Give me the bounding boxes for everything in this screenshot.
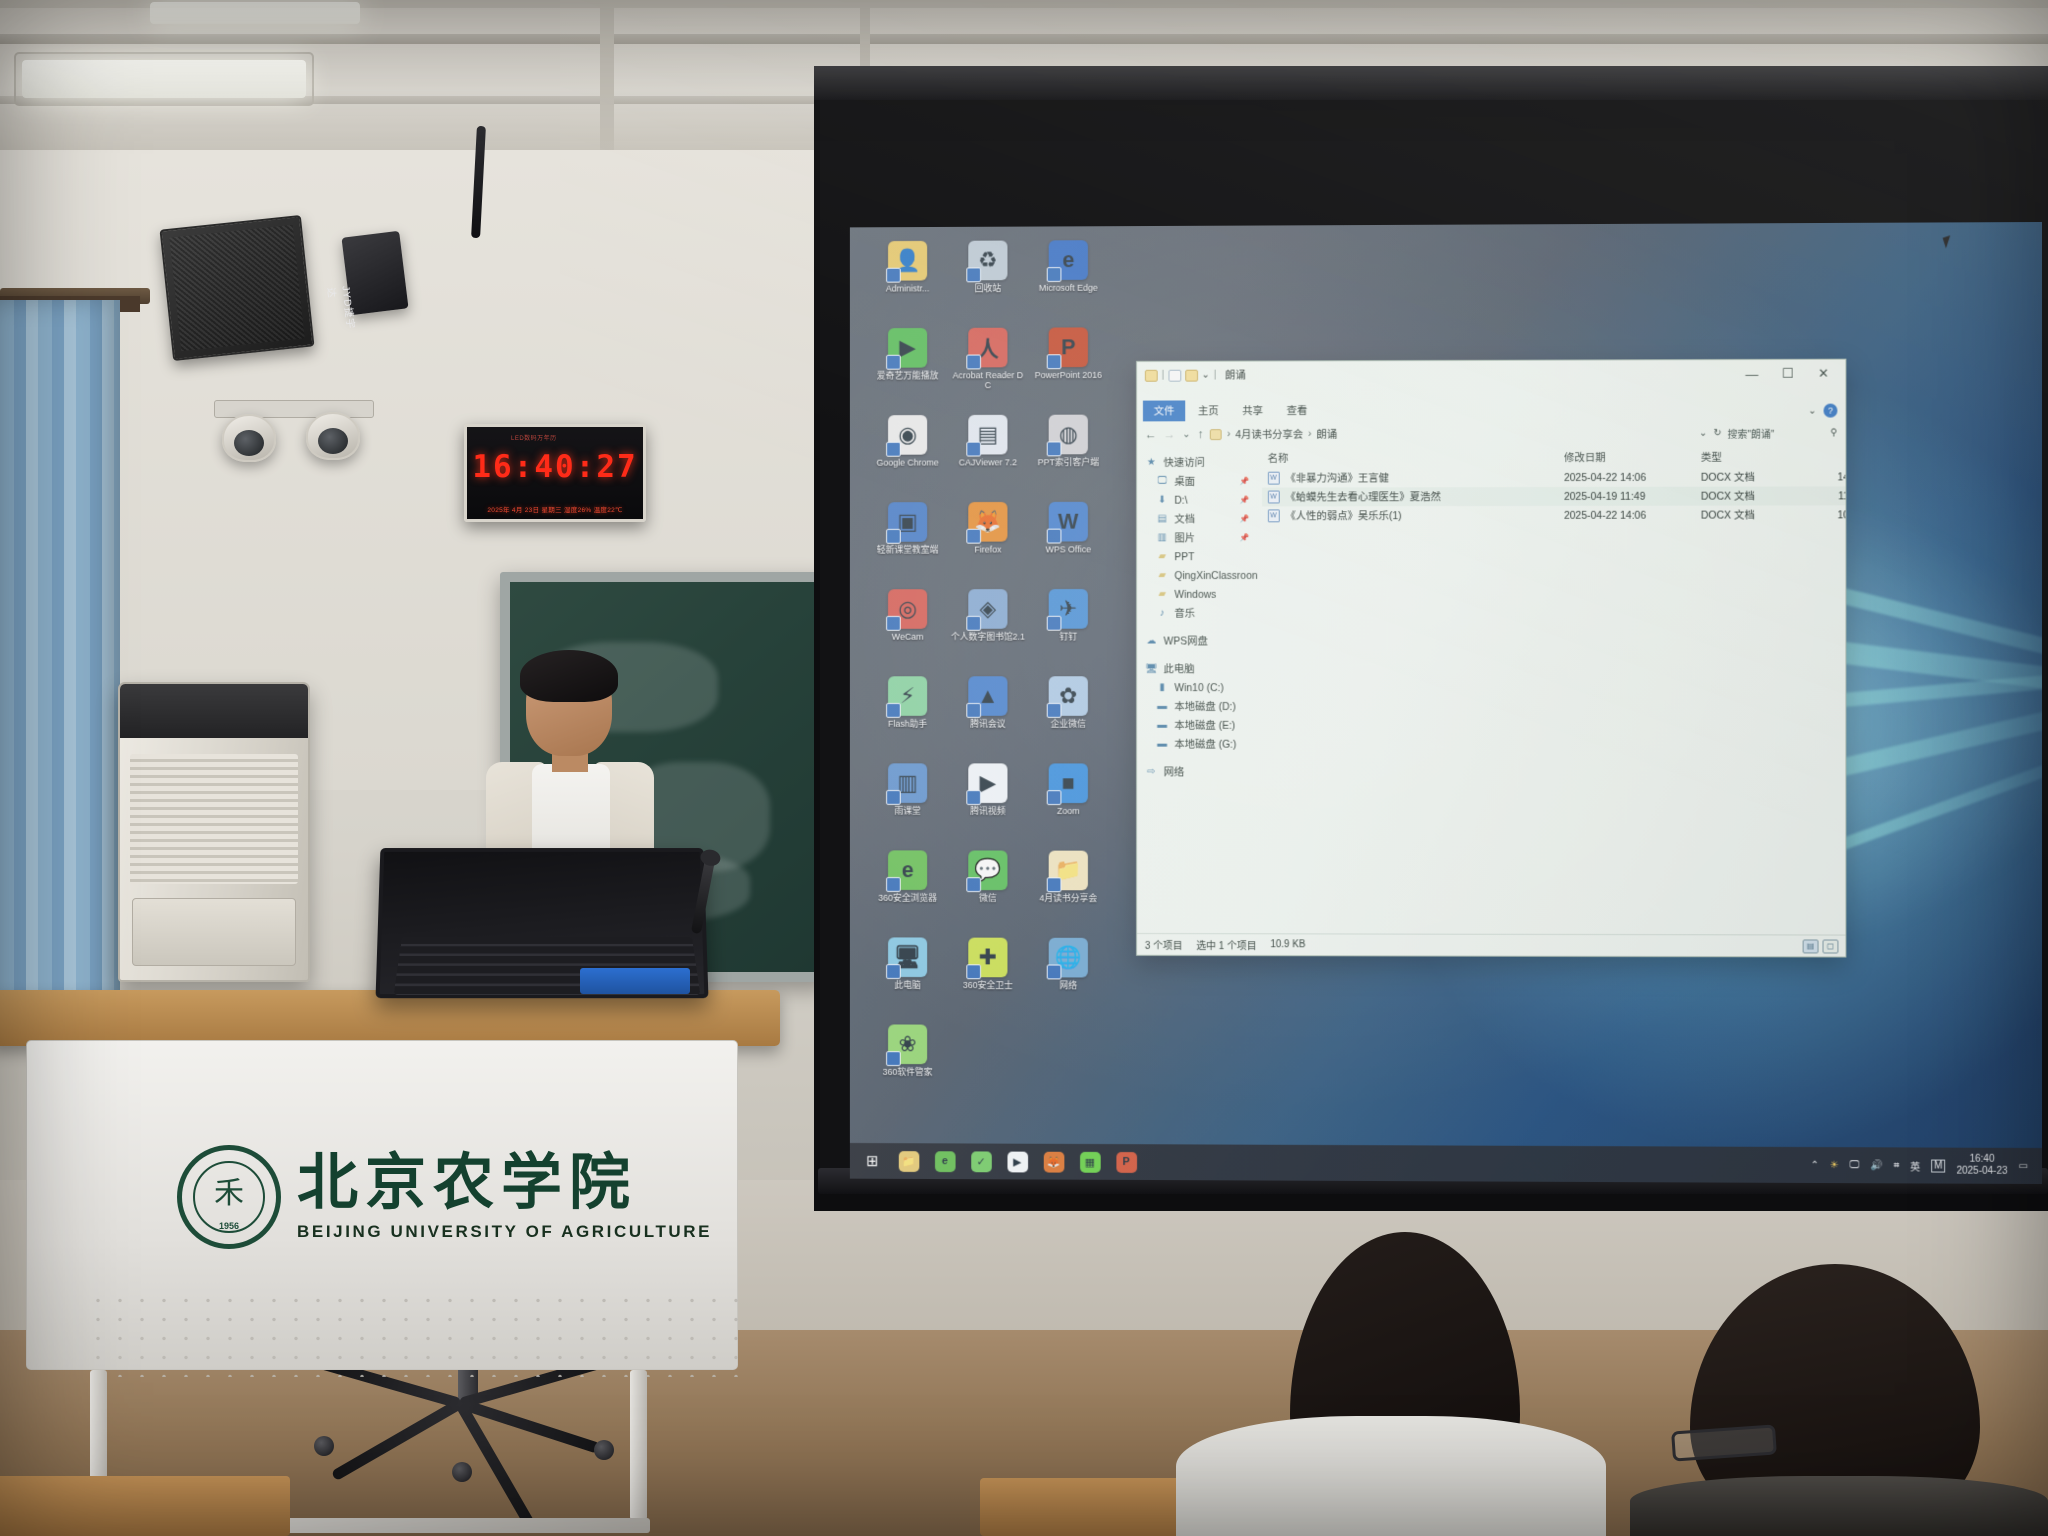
nav-item-label: 音乐 — [1174, 606, 1195, 621]
wifi-access-point: JYD捷宇达 — [341, 231, 408, 315]
folder-icon — [1210, 429, 1222, 440]
column-header-size[interactable]: 大小 — [1810, 449, 1845, 464]
desktop-icon-glyph: ▣ — [888, 502, 927, 542]
ribbon-tab-file[interactable]: 文件 — [1143, 400, 1185, 421]
nav-item[interactable]: ▰QingXinClassroon — [1145, 566, 1258, 585]
nav-item-label: 本地磁盘 (G:) — [1174, 737, 1236, 752]
taskbar[interactable]: ⊞ 📁e✓▶🦊▦P ⌃ ☀ 🖵 🔊 ⌗ 英 M 16:40 2025-04-23… — [850, 1143, 2042, 1184]
ribbon-right-controls[interactable]: ⌄ ? — [1808, 404, 1837, 418]
column-header-row[interactable]: 名称 修改日期 类型 大小 ⌃ — [1262, 445, 1846, 468]
ceiling-rail — [0, 34, 2048, 44]
desktop-icon-label: Microsoft Edge — [1030, 283, 1107, 293]
pin-icon[interactable]: 📌 — [1240, 514, 1250, 523]
desktop-icon-glyph: ♻ — [968, 241, 1007, 281]
desktop-icon[interactable]: ▥雨课堂 — [869, 763, 945, 840]
desktop-icon[interactable]: ⚡Flash助手 — [869, 676, 945, 753]
folder-icon[interactable] — [1145, 369, 1158, 381]
desktop-icon-label: 个人数字图书馆2.1 — [950, 632, 1026, 642]
new-folder-icon[interactable] — [1185, 369, 1198, 381]
action-center-icon[interactable]: ▭ — [2019, 1160, 2028, 1171]
desktop-icon-label: Flash助手 — [869, 719, 945, 729]
desktop-icon-glyph: 🌐 — [1049, 938, 1088, 978]
desktop-icon-label: 360安全浏览器 — [869, 893, 945, 903]
desktop-icon-label: 轻新课堂教室端 — [869, 545, 945, 555]
desktop-icon-glyph: 人 — [968, 328, 1007, 368]
start-button[interactable]: ⊞ — [856, 1145, 889, 1177]
search-input[interactable]: 搜索"朗诵" — [1728, 425, 1775, 440]
file-rows[interactable]: W《非暴力沟通》王言健2025-04-22 14:06DOCX 文档14 KBW… — [1262, 467, 1846, 525]
powerpoint-icon: P — [1116, 1152, 1137, 1173]
desktop-icon[interactable]: PPowerPoint 2016 — [1030, 327, 1107, 405]
nav-item-label: 文档 — [1174, 512, 1195, 527]
breadcrumb-item-1[interactable]: 朗诵 — [1316, 426, 1337, 441]
chevron-down-icon[interactable]: ⌄ — [1699, 427, 1707, 438]
nav-item[interactable]: ▰PPT — [1145, 547, 1258, 566]
download-icon: ⬇ — [1156, 495, 1169, 506]
docx-file-icon: W — [1268, 472, 1280, 485]
nav-item[interactable]: ☁WPS网盘 — [1145, 632, 1258, 651]
wps-icon: ▦ — [1080, 1151, 1101, 1172]
system-drive-icon: ▮ — [1156, 682, 1169, 693]
desktop-icon-label: WeCam — [869, 632, 945, 642]
desktop-icon-glyph: ◉ — [888, 415, 927, 455]
file-type: DOCX 文档 — [1701, 470, 1810, 485]
windows-logo-icon: ⊞ — [866, 1152, 878, 1170]
file-name-cell[interactable]: W《非暴力沟通》王言健 — [1268, 470, 1564, 486]
nav-item[interactable]: ★快速访问 — [1145, 453, 1258, 472]
led-clock-time: 16:40:27 — [467, 449, 643, 485]
nav-item[interactable]: 🖥此电脑 — [1145, 659, 1258, 678]
ceiling-duct — [600, 0, 614, 150]
desktop-icon: 🖵 — [1156, 476, 1169, 487]
taskbar-file-explorer[interactable]: 📁 — [892, 1145, 925, 1177]
air-conditioner — [118, 682, 310, 982]
nav-item-label: D:\ — [1174, 494, 1187, 506]
nav-item-label: Windows — [1174, 588, 1216, 600]
ribbon-tab-share[interactable]: 共享 — [1231, 400, 1273, 421]
classroom-scene: JYD捷宇达 LED数码万年历 16:40:27 2025年 4月 23日 星期… — [0, 0, 2048, 1536]
desktop-icon[interactable]: 👤Administr... — [869, 241, 945, 318]
desktop-icon-glyph: e — [888, 850, 927, 890]
column-header-date[interactable]: 修改日期 — [1564, 449, 1701, 464]
lectern: 禾 1956 北京农学院 BEIJING UNIVERSITY OF AGRIC… — [0, 990, 780, 1536]
desktop-icon[interactable]: ▶爱奇艺万能播放 — [869, 328, 945, 405]
taskbar-tencent-video[interactable]: ▶ — [1001, 1146, 1034, 1178]
cloud-icon: ☁ — [1145, 636, 1158, 647]
nav-item-label: PPT — [1174, 551, 1194, 563]
desktop-icon-glyph: 👤 — [888, 241, 927, 281]
desktop-icon-glyph: 📁 — [1049, 851, 1088, 891]
desktop-icon-label: Administr... — [869, 283, 945, 293]
show-hidden-icons[interactable]: ⌃ — [1811, 1159, 1819, 1170]
navigation-pane[interactable]: ★快速访问🖵桌面📌⬇D:\📌▤文档📌▥图片📌▰PPT▰QingXinClassr… — [1137, 447, 1262, 933]
selection-count: 选中 1 个项目 — [1196, 937, 1256, 952]
desktop-icon-glyph: ■ — [1049, 763, 1088, 803]
breadcrumb[interactable]: › 4月读书分享会 › 朗诵 — [1210, 426, 1337, 441]
file-date: 2025-04-22 14:06 — [1564, 509, 1701, 521]
tencent-video-icon: ▶ — [1007, 1151, 1028, 1172]
presenter-hair — [520, 650, 618, 702]
desktop-icon-glyph: ◍ — [1049, 415, 1088, 455]
lectern-touchpad-strip — [580, 968, 690, 994]
ceiling-duct-2 — [860, 0, 870, 66]
folder-icon: ▰ — [1156, 551, 1169, 562]
desktop-icon-glyph: ◎ — [888, 589, 927, 629]
nav-item-label: QingXinClassroon — [1174, 569, 1257, 581]
360-safe-icon: ✓ — [971, 1151, 992, 1172]
ceiling-light-tube-2 — [150, 2, 360, 24]
wall-speaker-left — [159, 215, 314, 361]
desktop-icon-label: 腾讯会议 — [950, 719, 1026, 729]
breadcrumb-item-0[interactable]: 4月读书分享会 — [1235, 426, 1303, 441]
desktop-icon[interactable]: ❀360软件管家 — [869, 1024, 945, 1101]
star-icon: ★ — [1145, 457, 1158, 468]
desktop-icon-glyph: 🖥 — [888, 937, 927, 977]
desktop-icon-glyph: ✿ — [1049, 676, 1088, 716]
nav-item-label: 本地磁盘 (E:) — [1174, 718, 1235, 733]
file-date: 2025-04-22 14:06 — [1564, 471, 1701, 483]
clock-date: 2025-04-23 — [1956, 1166, 2007, 1178]
desktop-icon[interactable]: 🖥此电脑 — [869, 937, 945, 1014]
close-button[interactable]: ✕ — [1806, 362, 1842, 386]
refresh-icon[interactable]: ↻ — [1713, 427, 1721, 438]
pin-icon[interactable]: 📌 — [1240, 533, 1250, 542]
desktop-icon[interactable]: 📁4月读书分享会 — [1030, 851, 1107, 928]
picture-icon: ▥ — [1156, 532, 1169, 543]
desktop-icon[interactable]: ♻回收站 — [950, 240, 1026, 318]
desktop-icon-label: 腾讯视频 — [950, 806, 1026, 816]
desktop-icon-glyph: ◈ — [968, 589, 1007, 629]
desktop-icon[interactable]: 🦊Firefox — [950, 502, 1026, 579]
nav-item-label: 本地磁盘 (D:) — [1174, 699, 1235, 714]
desktop-icon-label: CAJViewer 7.2 — [950, 457, 1026, 467]
360-browser-icon: e — [935, 1151, 956, 1172]
collapse-ribbon-icon[interactable]: ⌄ — [1808, 405, 1816, 416]
ac-control-panel — [132, 898, 296, 966]
security-camera-left — [222, 414, 276, 462]
desktop-icon-label: WPS Office — [1030, 544, 1107, 554]
taskbar-powerpoint[interactable]: P — [1110, 1146, 1143, 1178]
up-button[interactable]: ↑ — [1197, 427, 1203, 441]
network-icon: ⇨ — [1145, 766, 1158, 777]
seal-emblem: 禾 — [214, 1179, 244, 1209]
led-clock-brand: LED数码万年历 — [511, 433, 557, 442]
file-name: 《蛤蟆先生去看心理医生》夏浩然 — [1285, 489, 1440, 504]
file-size: 10 KB — [1810, 509, 1845, 521]
selection-size: 10.9 KB — [1270, 939, 1305, 950]
ime-language-icon[interactable]: 英 — [1910, 1158, 1920, 1173]
taskbar-360-browser[interactable]: e — [928, 1145, 961, 1177]
nav-item-label: 图片 — [1174, 530, 1195, 545]
nav-item[interactable]: ▬本地磁盘 (E:) — [1145, 716, 1258, 735]
wifi-ap-label: JYD捷宇达 — [324, 285, 360, 339]
desktop-icon[interactable]: ▶腾讯视频 — [950, 763, 1026, 840]
nav-item[interactable]: ▥图片📌 — [1145, 528, 1258, 547]
file-row[interactable]: W《蛤蟆先生去看心理医生》夏浩然2025-04-19 11:49DOCX 文档1… — [1262, 486, 1846, 506]
desktop-icon[interactable]: ◍PPT索引客户端 — [1030, 415, 1107, 492]
view-mode-buttons[interactable]: ▤ ▢ — [1803, 939, 1839, 953]
university-logo: 禾 1956 北京农学院 BEIJING UNIVERSITY OF AGRIC… — [177, 1145, 712, 1249]
network-icon[interactable]: 🖵 — [1850, 1160, 1860, 1171]
desktop-icon-label: 此电脑 — [869, 980, 945, 990]
ribbon-tab-view[interactable]: 查看 — [1276, 400, 1318, 421]
file-size: 11 KB — [1810, 490, 1845, 502]
nav-item[interactable]: 🖵桌面📌 — [1145, 472, 1258, 491]
desktop-icon[interactable]: ✚360安全卫士 — [950, 938, 1026, 1015]
lectern-speaker-grill — [87, 1291, 747, 1377]
file-explorer-icon: 📁 — [898, 1151, 919, 1172]
file-date: 2025-04-19 11:49 — [1564, 490, 1701, 502]
desktop-icon-glyph: ✚ — [968, 938, 1007, 978]
desktop-icon-glyph: ▶ — [888, 328, 927, 368]
chevron-down-icon[interactable]: ⌄ — [1202, 370, 1210, 381]
nav-item[interactable]: ⬇D:\📌 — [1145, 491, 1258, 510]
audience-body-right — [1630, 1476, 2048, 1536]
desktop-icon-label: Zoom — [1030, 806, 1107, 816]
drive-icon: ▬ — [1156, 720, 1169, 731]
system-tray[interactable]: ⌃ ☀ 🖵 🔊 ⌗ 英 M 16:40 2025-04-23 ▭ — [1811, 1153, 2036, 1178]
desktop-icon-glyph: ✈ — [1049, 589, 1088, 629]
minimize-button[interactable]: — — [1734, 362, 1770, 386]
desktop-icon-glyph: W — [1049, 502, 1088, 542]
university-seal: 禾 1956 — [177, 1145, 281, 1249]
maximize-button[interactable]: ☐ — [1770, 362, 1806, 386]
status-bar: 3 个项目 选中 1 个项目 10.9 KB ▤ ▢ — [1137, 933, 1845, 957]
pin-icon[interactable]: 📌 — [1240, 496, 1250, 505]
bluetooth-icon[interactable]: ⌗ — [1894, 1160, 1900, 1171]
ceiling-light-tube — [22, 60, 306, 98]
large-icons-view-icon[interactable]: ▢ — [1823, 939, 1839, 953]
volume-icon[interactable]: 🔊 — [1870, 1160, 1882, 1171]
desktop-icon-label: PPT索引客户端 — [1030, 457, 1107, 467]
desktop-icon-glyph: ▤ — [968, 415, 1007, 455]
firefox-icon: 🦊 — [1043, 1151, 1064, 1172]
explorer-window-title: 朗诵 — [1225, 368, 1246, 383]
desktop-icon[interactable]: ■Zoom — [1030, 763, 1107, 840]
document-icon: ▤ — [1156, 514, 1169, 525]
file-name-cell[interactable]: W《人性的弱点》吴乐乐(1) — [1268, 508, 1564, 523]
forward-button[interactable]: → — [1164, 427, 1176, 441]
desktop-icon-label: 360安全卫士 — [950, 980, 1026, 990]
window-controls[interactable]: — ☐ ✕ — [1734, 362, 1841, 386]
search-box[interactable]: ⌄ ↻ 搜索"朗诵" ⚲ — [1699, 425, 1837, 440]
recent-locations-icon[interactable]: ⌄ — [1182, 429, 1190, 440]
file-name-cell[interactable]: W《蛤蟆先生去看心理医生》夏浩然 — [1268, 489, 1564, 504]
file-type: DOCX 文档 — [1701, 507, 1810, 522]
folder-icon: ▰ — [1156, 570, 1169, 581]
properties-icon[interactable] — [1168, 369, 1181, 381]
taskbar-wps[interactable]: ▦ — [1073, 1146, 1106, 1178]
nav-item[interactable]: ▬本地磁盘 (G:) — [1145, 735, 1258, 754]
desktop-icon-label: 网络 — [1030, 980, 1107, 990]
desktop-icon-glyph: ▲ — [968, 676, 1007, 716]
desktop-icon[interactable]: WWPS Office — [1030, 502, 1107, 579]
music-icon: ♪ — [1156, 608, 1169, 619]
desktop-icon-glyph: ⚡ — [888, 676, 927, 716]
nav-item-label: Win10 (C:) — [1174, 682, 1223, 694]
university-name-en: BEIJING UNIVERSITY OF AGRICULTURE — [297, 1222, 712, 1242]
file-row[interactable]: W《人性的弱点》吴乐乐(1)2025-04-22 14:06DOCX 文档10 … — [1262, 505, 1846, 525]
explorer-body: ★快速访问🖵桌面📌⬇D:\📌▤文档📌▥图片📌▰PPT▰QingXinClassr… — [1137, 445, 1845, 934]
folder-icon: ▰ — [1156, 589, 1169, 600]
desktop-icon-glyph: 🦊 — [968, 502, 1007, 542]
nav-item[interactable]: ♪音乐 — [1145, 604, 1258, 623]
details-view-icon[interactable]: ▤ — [1803, 939, 1819, 953]
mouse-cursor — [1943, 235, 1954, 248]
address-bar[interactable]: ← → ⌄ ↑ › 4月读书分享会 › 朗诵 ⌄ ↻ 搜索"朗诵" — [1137, 420, 1845, 448]
desktop-icon-label: Acrobat Reader DC — [950, 370, 1026, 390]
nav-item[interactable]: ⇨网络 — [1145, 762, 1258, 781]
security-camera-right — [306, 412, 360, 460]
desktop-icon-label: 360软件管家 — [869, 1067, 945, 1077]
desktop-icon-grid[interactable]: 👤Administr...♻回收站eMicrosoft Edge▶爱奇艺万能播放… — [867, 240, 1112, 1112]
desktop-icon[interactable]: ▲腾讯会议 — [950, 676, 1026, 753]
quick-access-toolbar[interactable]: | ⌄ | 朗诵 — [1137, 362, 1246, 383]
nav-item-label: 快速访问 — [1164, 455, 1205, 470]
led-clock-subline: 2025年 4月 23日 星期三 湿度26% 温度22℃ — [467, 504, 643, 514]
column-header-type[interactable]: 类型 — [1701, 449, 1810, 464]
desktop-icon[interactable]: ◎WeCam — [869, 589, 945, 666]
pin-icon[interactable]: 📌 — [1240, 477, 1250, 486]
desktop-icon-label: 微信 — [950, 893, 1026, 903]
desktop-icon-glyph: 💬 — [968, 850, 1007, 890]
column-header-name[interactable]: 名称 — [1268, 450, 1564, 466]
clock-time: 16:40 — [1956, 1154, 2007, 1166]
drive-icon: ▬ — [1156, 739, 1169, 750]
nav-item[interactable]: ▮Win10 (C:) — [1145, 678, 1258, 697]
ribbon-tab-bar[interactable]: 文件 主页 共享 查看 ⌄ ? — [1137, 396, 1845, 422]
file-explorer-window[interactable]: | ⌄ | 朗诵 — ☐ ✕ 文件 主页 — [1136, 359, 1846, 958]
nav-item[interactable]: ▤文档📌 — [1145, 509, 1258, 528]
desktop-icon-label: 企业微信 — [1030, 719, 1107, 729]
desktop-icon-label: 雨课堂 — [869, 806, 945, 816]
window-curtain — [0, 300, 120, 1020]
back-button[interactable]: ← — [1145, 427, 1157, 441]
desktop-icon-label: Google Chrome — [869, 458, 945, 468]
desktop-icon-glyph: ▥ — [888, 763, 927, 803]
nav-item-label: 此电脑 — [1164, 661, 1195, 676]
docx-file-icon: W — [1268, 491, 1280, 504]
file-row[interactable]: W《非暴力沟通》王言健2025-04-22 14:06DOCX 文档14 KB — [1262, 467, 1846, 487]
projector-screen-roller — [814, 66, 2048, 100]
ribbon-tab-home[interactable]: 主页 — [1187, 400, 1229, 421]
desktop-icon[interactable]: ◈个人数字图书馆2.1 — [950, 589, 1026, 666]
desktop-icon-label: Firefox — [950, 545, 1026, 555]
search-icon[interactable]: ⚲ — [1830, 427, 1837, 438]
desktop-icon[interactable]: ✈钉钉 — [1030, 589, 1107, 666]
nav-item[interactable]: ▰Windows — [1145, 585, 1258, 604]
lectern-front-panel: 禾 1956 北京农学院 BEIJING UNIVERSITY OF AGRIC… — [26, 1040, 738, 1370]
nav-item-label: 网络 — [1164, 764, 1185, 779]
computer-icon: 🖥 — [1145, 663, 1158, 674]
desktop-icon-label: 回收站 — [950, 283, 1026, 293]
desktop-icon[interactable]: ▤CAJViewer 7.2 — [950, 415, 1026, 492]
desktop-icon-glyph: ▶ — [968, 763, 1007, 803]
desktop-icon[interactable]: ✿企业微信 — [1030, 676, 1107, 753]
sort-ascending-icon: ⌃ — [1408, 445, 1415, 449]
explorer-title-bar[interactable]: | ⌄ | 朗诵 — ☐ ✕ — [1137, 360, 1845, 398]
windows-desktop[interactable]: 👤Administr...♻回收站eMicrosoft Edge▶爱奇艺万能播放… — [850, 222, 2042, 1184]
desktop-icon-label: 钉钉 — [1030, 632, 1107, 642]
desktop-icon[interactable]: 🌐网络 — [1030, 938, 1107, 1015]
nav-item[interactable]: ▬本地磁盘 (D:) — [1145, 697, 1258, 716]
lectern-top — [0, 990, 780, 1046]
led-clock-board: LED数码万年历 16:40:27 2025年 4月 23日 星期三 湿度26%… — [464, 424, 646, 522]
projected-desktop[interactable]: 👤Administr...♻回收站eMicrosoft Edge▶爱奇艺万能播放… — [850, 222, 2042, 1184]
ac-grill — [130, 754, 298, 884]
taskbar-360-safe[interactable]: ✓ — [964, 1145, 997, 1177]
ime-mode-icon[interactable]: M — [1931, 1159, 1945, 1172]
nav-item-label: 桌面 — [1174, 474, 1195, 489]
desktop-icon[interactable]: ◉Google Chrome — [869, 415, 945, 492]
taskbar-pinned-apps[interactable]: 📁e✓▶🦊▦P — [892, 1145, 1146, 1178]
desktop-icon[interactable]: ▣轻新课堂教室端 — [869, 502, 945, 579]
file-list-pane[interactable]: 名称 修改日期 类型 大小 ⌃ W《非暴力沟通》王言健2025-04-22 14… — [1262, 445, 1846, 934]
file-name: 《非暴力沟通》王言健 — [1285, 470, 1389, 485]
file-name: 《人性的弱点》吴乐乐(1) — [1285, 508, 1401, 523]
brightness-icon[interactable]: ☀ — [1830, 1160, 1839, 1171]
file-size: 14 KB — [1810, 471, 1845, 483]
ac-top-panel — [120, 684, 308, 738]
desktop-icon[interactable]: 💬微信 — [950, 850, 1026, 927]
taskbar-firefox[interactable]: 🦊 — [1037, 1146, 1070, 1178]
help-icon[interactable]: ? — [1824, 404, 1838, 418]
taskbar-clock[interactable]: 16:40 2025-04-23 — [1956, 1154, 2007, 1178]
desktop-icon-label: 4月读书分享会 — [1030, 893, 1107, 903]
audience-body-center — [1176, 1416, 1606, 1536]
desktop-icon-label: PowerPoint 2016 — [1030, 370, 1107, 380]
desktop-icon-glyph: P — [1049, 327, 1088, 367]
desktop-icon-glyph: ❀ — [888, 1024, 927, 1064]
university-name-cn: 北京农学院 — [297, 1152, 712, 1213]
seal-founding-year: 1956 — [182, 1221, 276, 1231]
audience-desk-left — [0, 1476, 290, 1536]
desktop-icon[interactable]: eMicrosoft Edge — [1030, 240, 1107, 318]
docx-file-icon: W — [1268, 509, 1280, 522]
drive-icon: ▬ — [1156, 701, 1169, 712]
file-type: DOCX 文档 — [1701, 488, 1810, 503]
nav-item-label: WPS网盘 — [1164, 634, 1208, 649]
desktop-icon-label: 爱奇艺万能播放 — [869, 370, 945, 380]
desktop-icon[interactable]: 人Acrobat Reader DC — [950, 328, 1026, 405]
desktop-icon[interactable]: e360安全浏览器 — [869, 850, 945, 927]
item-count: 3 个项目 — [1145, 937, 1183, 952]
desktop-icon-glyph: e — [1049, 240, 1088, 280]
